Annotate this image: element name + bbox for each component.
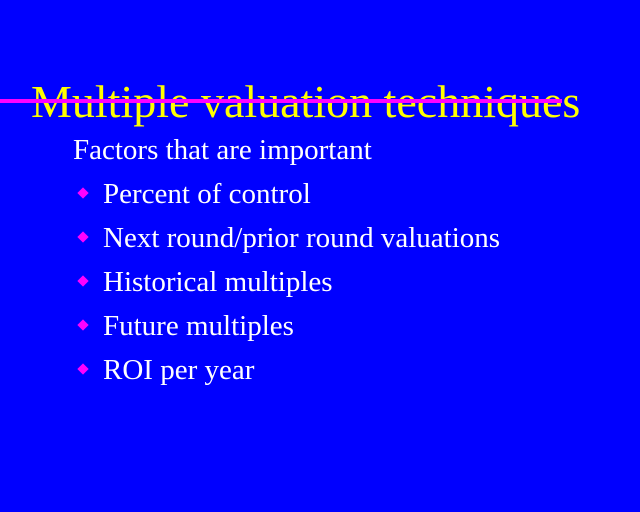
diamond-bullet-icon xyxy=(77,363,88,374)
title-divider xyxy=(0,99,562,103)
diamond-bullet-icon xyxy=(77,231,88,242)
list-item-label: Percent of control xyxy=(103,178,311,211)
list-item: Future multiples xyxy=(73,310,613,354)
list-item: Next round/prior round valuations xyxy=(73,222,613,266)
list-item-label: Future multiples xyxy=(103,310,294,343)
list-item-label: Historical multiples xyxy=(103,266,333,299)
presentation-slide: Multiple valuation techniques Factors th… xyxy=(0,0,640,512)
diamond-bullet-icon xyxy=(77,187,88,198)
list-item: Percent of control xyxy=(73,178,613,222)
list-item: ROI per year xyxy=(73,354,613,398)
diamond-bullet-icon xyxy=(77,275,88,286)
list-item-label: Next round/prior round valuations xyxy=(103,222,500,255)
bullet-list: Percent of control Next round/prior roun… xyxy=(73,178,613,398)
intro-text: Factors that are important xyxy=(73,133,613,167)
list-item: Historical multiples xyxy=(73,266,613,310)
diamond-bullet-icon xyxy=(77,319,88,330)
slide-body: Factors that are important Percent of co… xyxy=(73,133,613,398)
list-item-label: ROI per year xyxy=(103,354,254,387)
